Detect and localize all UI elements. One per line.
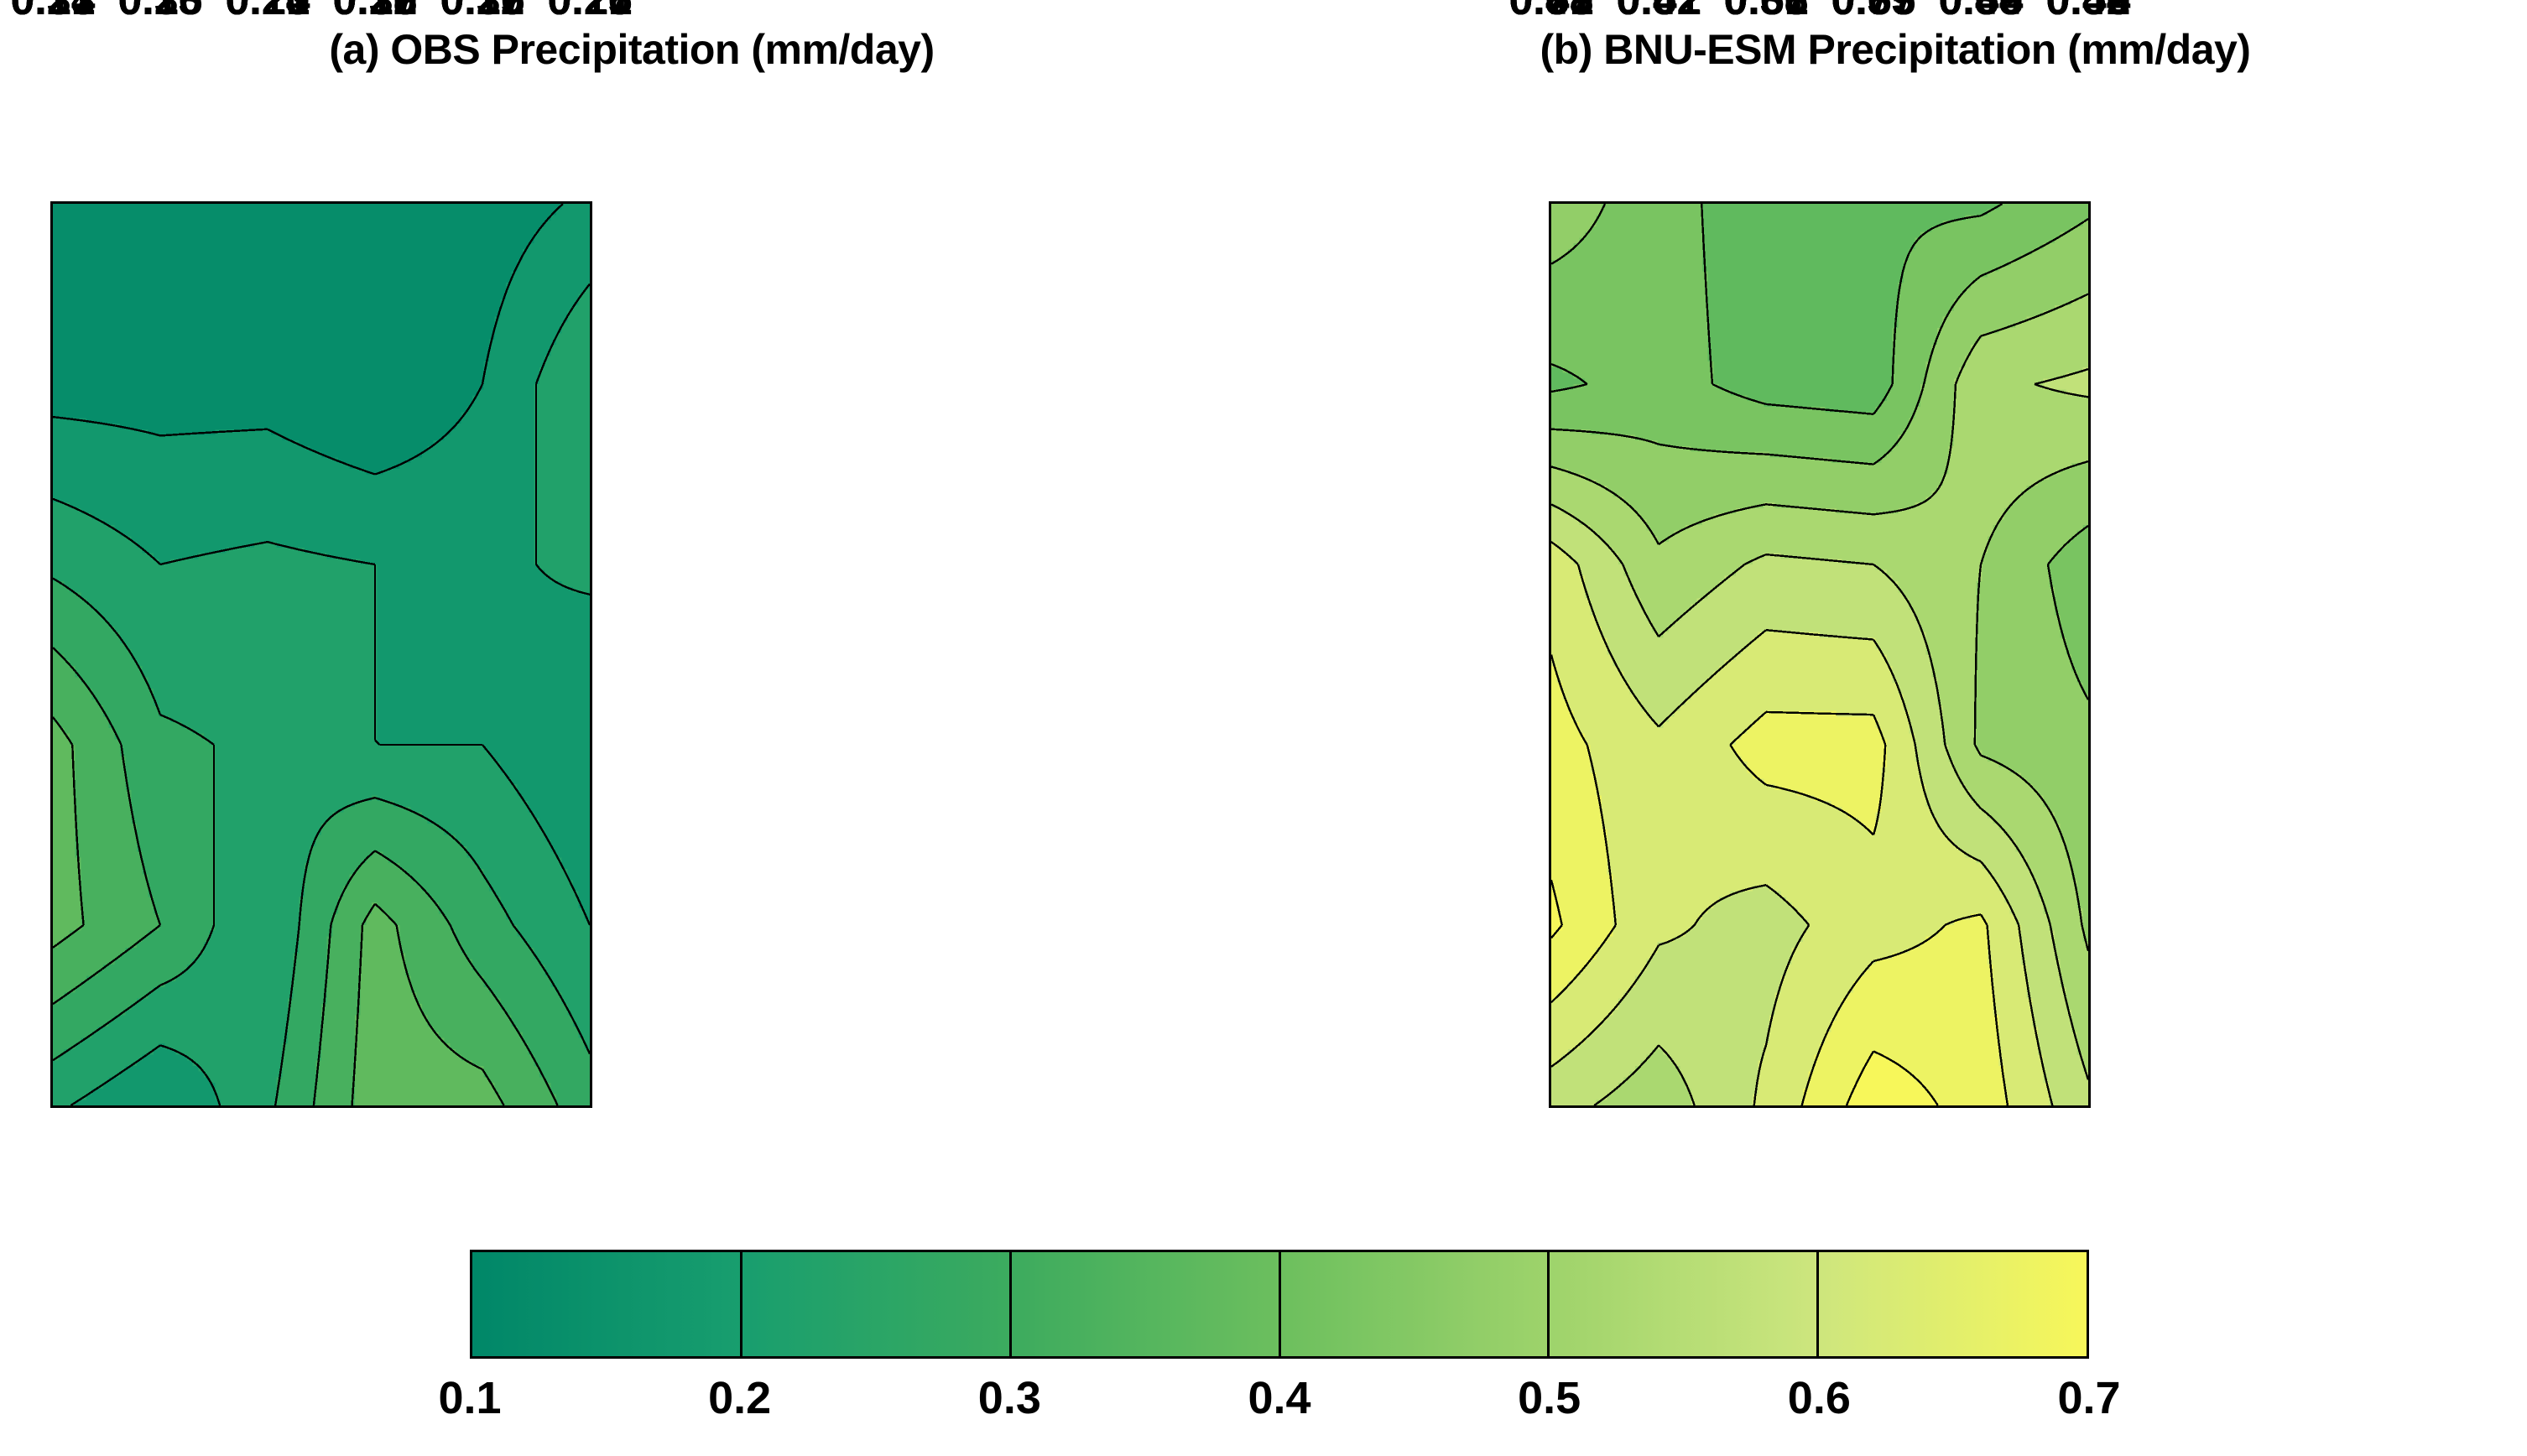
- colorbar: [470, 1250, 2089, 1359]
- colorbar-tick: [1009, 1252, 1012, 1356]
- figure-root: (a) OBS Precipitation (mm/day) 0.130.100…: [0, 0, 2527, 1449]
- colorbar-container: 0.10.20.30.40.50.60.7: [470, 1250, 2089, 1456]
- cell-value: 0.61: [1723, 0, 1808, 22]
- colorbar-tick-label: 0.7: [2057, 1372, 2120, 1424]
- colorbar-tick-label: 0.6: [1788, 1372, 1851, 1424]
- colorbar-tick-label: 0.5: [1518, 1372, 1581, 1424]
- colorbar-tick-label: 0.4: [1248, 1372, 1310, 1424]
- colorbar-tick-label: 0.1: [438, 1372, 501, 1424]
- cell-value: 0.38: [332, 0, 417, 22]
- panel-b-title: (b) BNU-ESM Precipitation (mm/day): [1263, 25, 2527, 74]
- cell-value: 0.57: [1508, 0, 1593, 22]
- colorbar-tick: [1547, 1252, 1550, 1356]
- colorbar-tick-labels: 0.10.20.30.40.50.60.7: [470, 1372, 2089, 1456]
- heatmap-obs: [50, 201, 592, 1108]
- colorbar-tick: [1816, 1252, 1819, 1356]
- cell-value: 0.68: [1938, 0, 2023, 22]
- cell-value: 0.21: [10, 0, 95, 22]
- cell-value: 0.37: [440, 0, 524, 22]
- colorbar-tick: [1279, 1252, 1281, 1356]
- cell-value: 0.15: [117, 0, 202, 22]
- cell-value: 0.56: [2045, 0, 2130, 22]
- cell-value: 0.27: [547, 0, 632, 22]
- colorbar-tick-label: 0.2: [708, 1372, 771, 1424]
- panel-bnu-esm: (b) BNU-ESM Precipitation (mm/day) 0.480…: [1263, 0, 2527, 1174]
- panel-obs: (a) OBS Precipitation (mm/day) 0.130.100…: [0, 0, 1263, 1174]
- cell-value: 0.24: [225, 0, 310, 22]
- panel-a-title: (a) OBS Precipitation (mm/day): [0, 25, 1263, 74]
- colorbar-tick: [740, 1252, 742, 1356]
- cell-value: 0.73: [1831, 0, 1915, 22]
- heatmap-bnu-esm: [1549, 201, 2091, 1108]
- cell-value: 0.52: [1616, 0, 1701, 22]
- colorbar-tick-label: 0.3: [978, 1372, 1041, 1424]
